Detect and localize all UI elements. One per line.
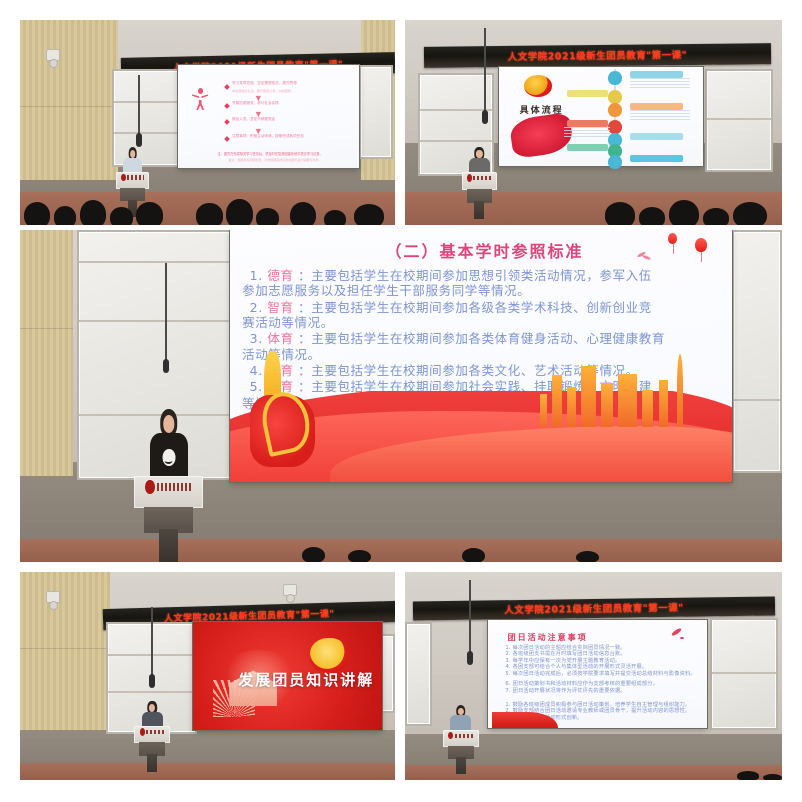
podium <box>462 172 498 219</box>
camera-icon <box>46 591 60 603</box>
slide-bullet-4: 注意事项：积极主动申请，按期完成各项任务 <box>232 134 304 139</box>
projection-screen: 发展团员知识讲解 <box>193 622 382 730</box>
balloon-icon <box>668 233 677 244</box>
banner-text: 人文学院2021级新生团员教育"第一课" <box>504 600 684 617</box>
ribbon-decor-icon <box>671 630 685 640</box>
podium <box>134 726 170 772</box>
slide-bullet-2: 开展志愿服务，参与社会实践 <box>232 101 279 106</box>
slide-title: 发展团员知识讲解 <box>238 669 374 690</box>
slide-note-2: 备注：团组织将定期检查，对未按期完成任务的团员进行提醒与补学。 <box>228 158 321 162</box>
photo-middle: （二）基本学时参照标准 1. 德育 ：主要包括学生在校期间参加思想引领类活动情况… <box>20 230 782 562</box>
microphone-cable <box>469 580 471 655</box>
slide-top-left: 学习党章党规，坚定理想信念，提升思想 参加团组织生活，履行团员义务，交纳团费 ▼… <box>178 65 360 168</box>
whiteboard-right <box>732 230 782 473</box>
microphone-cable <box>165 263 167 363</box>
whiteboard-left <box>405 622 432 726</box>
city-skyline-icon <box>536 351 707 427</box>
slide-bullet-1-sub: 参加团组织生活，履行团员义务，交纳团费 <box>232 88 291 93</box>
youth-league-badge-icon <box>524 75 553 97</box>
flowchart <box>585 69 699 163</box>
item-3-text: ：主要包括学生在校期间参加各类体育健身活动、心理健康教育 <box>298 331 665 346</box>
slide-title: （二）基本学时参照标准 <box>385 238 583 262</box>
whiteboard-right <box>705 69 773 171</box>
wood-panel-left <box>20 572 110 730</box>
podium <box>134 476 203 562</box>
camera-icon <box>283 584 297 596</box>
floor <box>20 192 395 225</box>
banner-text: 人文学院2021级新生团员教育"第一课" <box>508 47 687 63</box>
presenter <box>150 409 188 482</box>
panel-top-right: 人文学院2021级新生团员教育"第一课" 具体流程 <box>405 20 782 225</box>
whiteboard-right <box>710 618 778 730</box>
whiteboard-right <box>359 65 393 159</box>
slide-bullet-3: 推优入党，坚定不移跟党走 <box>232 117 275 122</box>
whiteboard-right <box>380 634 395 713</box>
microphone-cable <box>484 28 486 114</box>
projection-screen: 具体流程 <box>499 67 703 165</box>
slide-bottom-left: 发展团员知识讲解 <box>193 622 382 730</box>
item-2-text: ：主要包括学生在校期间参加各级各类学术科技、创新创业竞 <box>298 300 652 315</box>
floor <box>20 763 395 780</box>
projection-screen: 团日活动注意事项 1. 每次团日活动的主题应结合实际团员情况一致。 2. 各班级… <box>488 620 707 728</box>
slide-bottom-right: 团日活动注意事项 1. 每次团日活动的主题应结合实际团员情况一致。 2. 各班级… <box>488 620 707 728</box>
podium <box>116 172 150 217</box>
slide-top-right: 具体流程 <box>499 67 703 165</box>
microphone-cable <box>138 75 140 137</box>
microphone-cable <box>151 607 153 678</box>
photo-top-right: 人文学院2021级新生团员教育"第一课" 具体流程 <box>405 20 782 225</box>
wood-panel-left <box>20 230 73 476</box>
panel-bottom-right: 人文学院2021级新生团员教育"第一课" 团日活动注意事项 1. 每次团日活动的… <box>405 572 782 780</box>
photo-bottom-right: 人文学院2021级新生团员教育"第一课" 团日活动注意事项 1. 每次团日活动的… <box>405 572 782 780</box>
wood-panel-left <box>20 20 118 180</box>
projection-screen: 学习党章党规，坚定理想信念，提升思想 参加团组织生活，履行团员义务，交纳团费 ▼… <box>178 65 360 168</box>
slide-bullet-1: 学习党章党规，坚定理想信念，提升思想 <box>232 81 297 86</box>
slide-title: 团日活动注意事项 <box>508 632 588 643</box>
camera-icon <box>46 49 60 61</box>
photo-top-left: 人文学院2021级新生团员教育"第一课" 学习党章党规，坚定理想信念，提升思想 … <box>20 20 395 225</box>
balloon-icon <box>695 238 707 252</box>
list-item: 7. 团日活动开展状况将作为评优评先的重要依据。 <box>505 687 625 694</box>
youth-league-badge-icon <box>310 638 348 672</box>
party-emblem-icon <box>250 351 315 467</box>
slide-note-1: 注：团员在完成相关学习任务后，须及时在智慧团建系统中提交学习记录。 <box>218 151 323 156</box>
stage-banner: 人文学院2021级新生团员教育"第一课" <box>424 43 771 67</box>
podium <box>443 730 479 774</box>
list-item: 5. 每次团日活动完成后，必须按学院要求填写并提交活动总结材料与影像资料。 <box>505 670 695 677</box>
panel-bottom-left: 人文学院2021级新生团员教育"第一课" 发展团员知识讲解 <box>20 572 395 780</box>
photo-bottom-left: 人文学院2021级新生团员教育"第一课" 发展团员知识讲解 <box>20 572 395 780</box>
runner-figure-icon <box>192 88 208 111</box>
photo-collage: 人文学院2021级新生团员教育"第一课" 学习党章党规，坚定理想信念，提升思想 … <box>0 0 802 802</box>
panel-top-left: 人文学院2021级新生团员教育"第一课" 学习党章党规，坚定理想信念，提升思想 … <box>20 20 395 225</box>
projection-screen: （二）基本学时参照标准 1. 德育 ：主要包括学生在校期间参加思想引领类活动情况… <box>230 230 733 482</box>
slide-middle: （二）基本学时参照标准 1. 德育 ：主要包括学生在校期间参加思想引领类活动情况… <box>230 230 733 482</box>
panel-middle: （二）基本学时参照标准 1. 德育 ：主要包括学生在校期间参加思想引领类活动情况… <box>20 230 782 562</box>
